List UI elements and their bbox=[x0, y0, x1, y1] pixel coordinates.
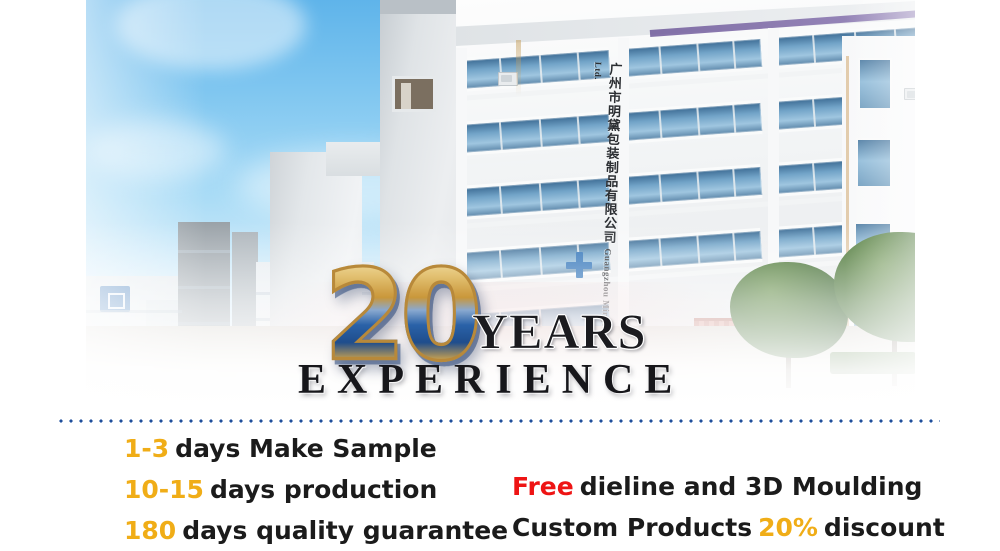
plus-logo-icon bbox=[566, 252, 592, 278]
feature-highlight: 10-15 bbox=[124, 475, 204, 504]
background-band bbox=[178, 250, 230, 253]
feature-text: dieline and 3D Moulding bbox=[580, 472, 923, 501]
background-band bbox=[86, 310, 182, 313]
feature-prefix: Custom Products bbox=[512, 513, 752, 542]
background-band bbox=[178, 286, 230, 289]
feature-item: Custom Products20%discount bbox=[512, 507, 945, 548]
feature-item: Freedieline and 3D Moulding bbox=[512, 466, 945, 507]
cloud-shape bbox=[86, 120, 226, 180]
parked-vehicle bbox=[236, 372, 280, 388]
feature-item: 10-15days production bbox=[124, 469, 508, 510]
wall-stain bbox=[516, 40, 521, 96]
feature-text: days quality guarantee bbox=[182, 516, 508, 545]
background-signboard-icon bbox=[100, 286, 130, 312]
dotted-divider bbox=[56, 419, 940, 423]
window bbox=[856, 138, 892, 188]
feature-column-right: Freedieline and 3D Moulding Custom Produ… bbox=[512, 466, 945, 548]
feature-text: days production bbox=[210, 475, 437, 504]
background-band bbox=[178, 322, 230, 325]
feature-item: 180days quality guarantee bbox=[124, 510, 508, 551]
feature-column-left: 1-3days Make Sample 10-15days production… bbox=[124, 428, 508, 551]
parked-vehicle bbox=[172, 370, 220, 388]
window bbox=[858, 58, 892, 110]
feature-text: days Make Sample bbox=[175, 434, 437, 463]
stair-tower-opening bbox=[392, 76, 436, 112]
feature-item: 1-3days Make Sample bbox=[124, 428, 508, 469]
parked-vehicle bbox=[102, 366, 156, 386]
window bbox=[914, 170, 915, 208]
air-conditioner-unit-icon bbox=[498, 72, 518, 86]
factory-photo: 广州市明黛包装制品有限公司 Guangzhou Mingdai Packagin… bbox=[86, 0, 915, 412]
promo-banner-page: 广州市明黛包装制品有限公司 Guangzhou Mingdai Packagin… bbox=[0, 0, 1000, 551]
air-conditioner-unit-icon bbox=[904, 88, 915, 100]
feature-list: 1-3days Make Sample 10-15days production… bbox=[0, 428, 1000, 551]
building-left-wing-top bbox=[326, 142, 384, 176]
feature-text: discount bbox=[824, 513, 945, 542]
feature-highlight: 180 bbox=[124, 516, 176, 545]
feature-highlight: 20% bbox=[758, 513, 818, 542]
hedge bbox=[830, 352, 915, 374]
feature-highlight: 1-3 bbox=[124, 434, 169, 463]
feature-highlight: Free bbox=[512, 472, 574, 501]
